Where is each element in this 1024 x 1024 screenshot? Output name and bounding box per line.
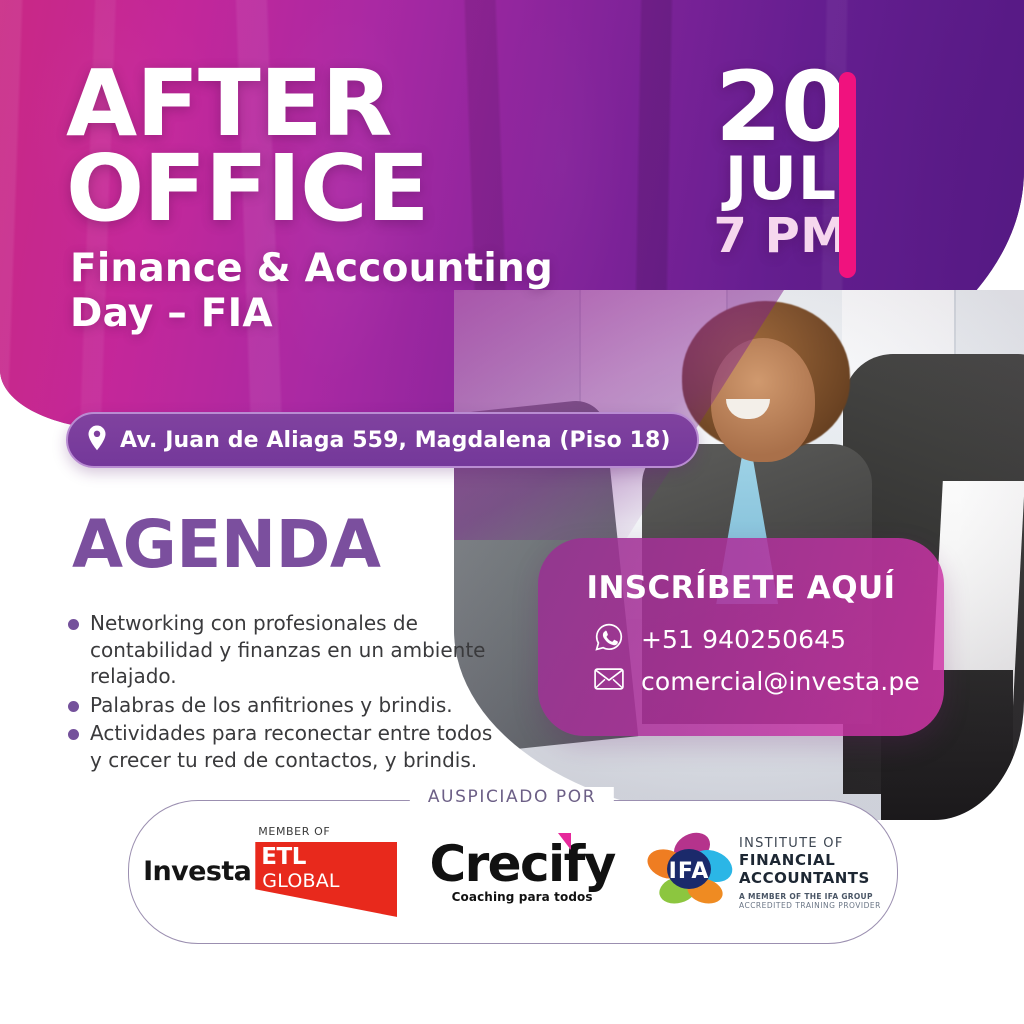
sponsors-label: AUSPICIADO POR [410,787,614,807]
agenda-item-text: Networking con profesionales de contabil… [90,611,485,688]
event-subtitle-line1: Finance & Accounting [70,247,553,291]
phone-row[interactable]: +51 940250645 [538,622,944,657]
phone-number: +51 940250645 [641,625,846,654]
event-title-line2: OFFICE [66,147,553,232]
agenda-item: Actividades para reconectar entre todos … [62,720,502,773]
address-text: Av. Juan de Aliaga 559, Magdalena (Piso … [120,428,671,453]
bullet-icon [68,619,79,630]
whatsapp-icon [594,622,624,657]
agenda-item-text: Actividades para reconectar entre todos … [90,721,492,772]
ifa-line2: FINANCIAL [739,851,836,869]
agenda-heading: AGENDA [72,512,380,578]
sponsor-logo-ifa[interactable]: IFA INSTITUTE OF FINANCIAL ACCOUNTANTS A… [645,828,881,914]
crecify-wordmark: Crecify [430,839,615,889]
email-row[interactable]: comercial@investa.pe [538,667,944,696]
agenda-item: Palabras de los anfitriones y brindis. [62,692,502,719]
etl-global-mark: MEMBER OF ETL GLOBAL [253,825,399,917]
event-subtitle-line2: Day – FIA [70,292,553,336]
registration-title: INSCRÍBETE AQUÍ [538,570,944,606]
etl-wordmark: ETL [261,844,306,870]
envelope-icon [594,667,624,696]
ifa-line5: ACCREDITED TRAINING PROVIDER [739,901,881,910]
etl-global-label: GLOBAL [262,870,339,892]
ifa-petal-mark-icon: IFA [645,828,737,914]
event-poster: AFTER OFFICE Finance & Accounting Day – … [0,0,1024,1024]
agenda-list: Networking con profesionales de contabil… [62,610,502,776]
event-title-block: AFTER OFFICE Finance & Accounting Day – … [66,62,553,336]
ifa-line4: A MEMBER OF THE IFA GROUP [739,892,881,901]
ifa-text-block: INSTITUTE OF FINANCIAL ACCOUNTANTS A MEM… [739,834,881,914]
etl-member-of-label: MEMBER OF [258,825,330,838]
agenda-item-text: Palabras de los anfitriones y brindis. [90,693,453,717]
svg-text:IFA: IFA [669,859,710,884]
bullet-icon [68,701,79,712]
sponsor-logo-crecify[interactable]: Crecify Coaching para todos [430,839,615,904]
sponsors-row: Investa MEMBER OF ETL GLOBAL Crecify Coa… [128,800,896,942]
investa-wordmark: Investa [143,856,251,887]
crecify-triangle-icon [558,833,571,850]
sponsor-logo-investa[interactable]: Investa MEMBER OF ETL GLOBAL [143,825,399,917]
agenda-item: Networking con profesionales de contabil… [62,610,502,690]
ifa-line1: INSTITUTE OF [739,836,844,851]
event-title-line1: AFTER [66,62,553,147]
ifa-line3: ACCOUNTANTS [739,869,870,887]
registration-card: INSCRÍBETE AQUÍ +51 940250645 comercial@… [538,538,944,736]
date-accent-bar [839,72,856,278]
location-pin-icon [86,424,108,457]
address-pill[interactable]: Av. Juan de Aliaga 559, Magdalena (Piso … [66,412,699,468]
email-address: comercial@investa.pe [641,667,920,696]
bullet-icon [68,729,79,740]
event-subtitle: Finance & Accounting Day – FIA [70,247,553,336]
